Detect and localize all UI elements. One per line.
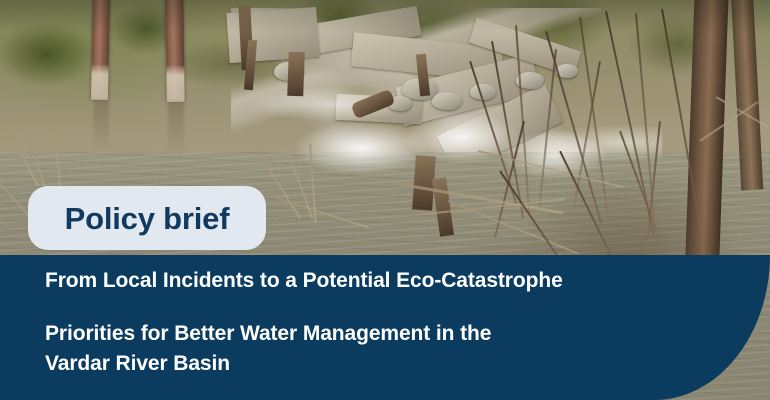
photo-pillar-reflection <box>94 100 109 152</box>
photo-top-shading <box>0 0 770 32</box>
photo-pillar-waterline <box>91 64 109 100</box>
photo-driftwood-stump <box>287 52 305 97</box>
policy-brief-cover: Policy brief From Local Incidents to a P… <box>0 0 770 400</box>
title-banner-content: From Local Incidents to a Potential Eco-… <box>45 255 730 400</box>
photo-pillar-waterline <box>166 66 185 102</box>
policy-brief-badge: Policy brief <box>28 186 266 250</box>
banner-subtitle-line-1: Priorities for Better Water Management i… <box>45 319 665 349</box>
banner-subtitle: Priorities for Better Water Management i… <box>45 319 665 379</box>
banner-title: From Local Incidents to a Potential Eco-… <box>45 268 730 293</box>
photo-pillar-reflection <box>168 102 184 156</box>
policy-brief-badge-label: Policy brief <box>65 203 230 234</box>
title-banner: From Local Incidents to a Potential Eco-… <box>0 255 770 400</box>
banner-subtitle-line-2: Vardar River Basin <box>45 349 665 379</box>
